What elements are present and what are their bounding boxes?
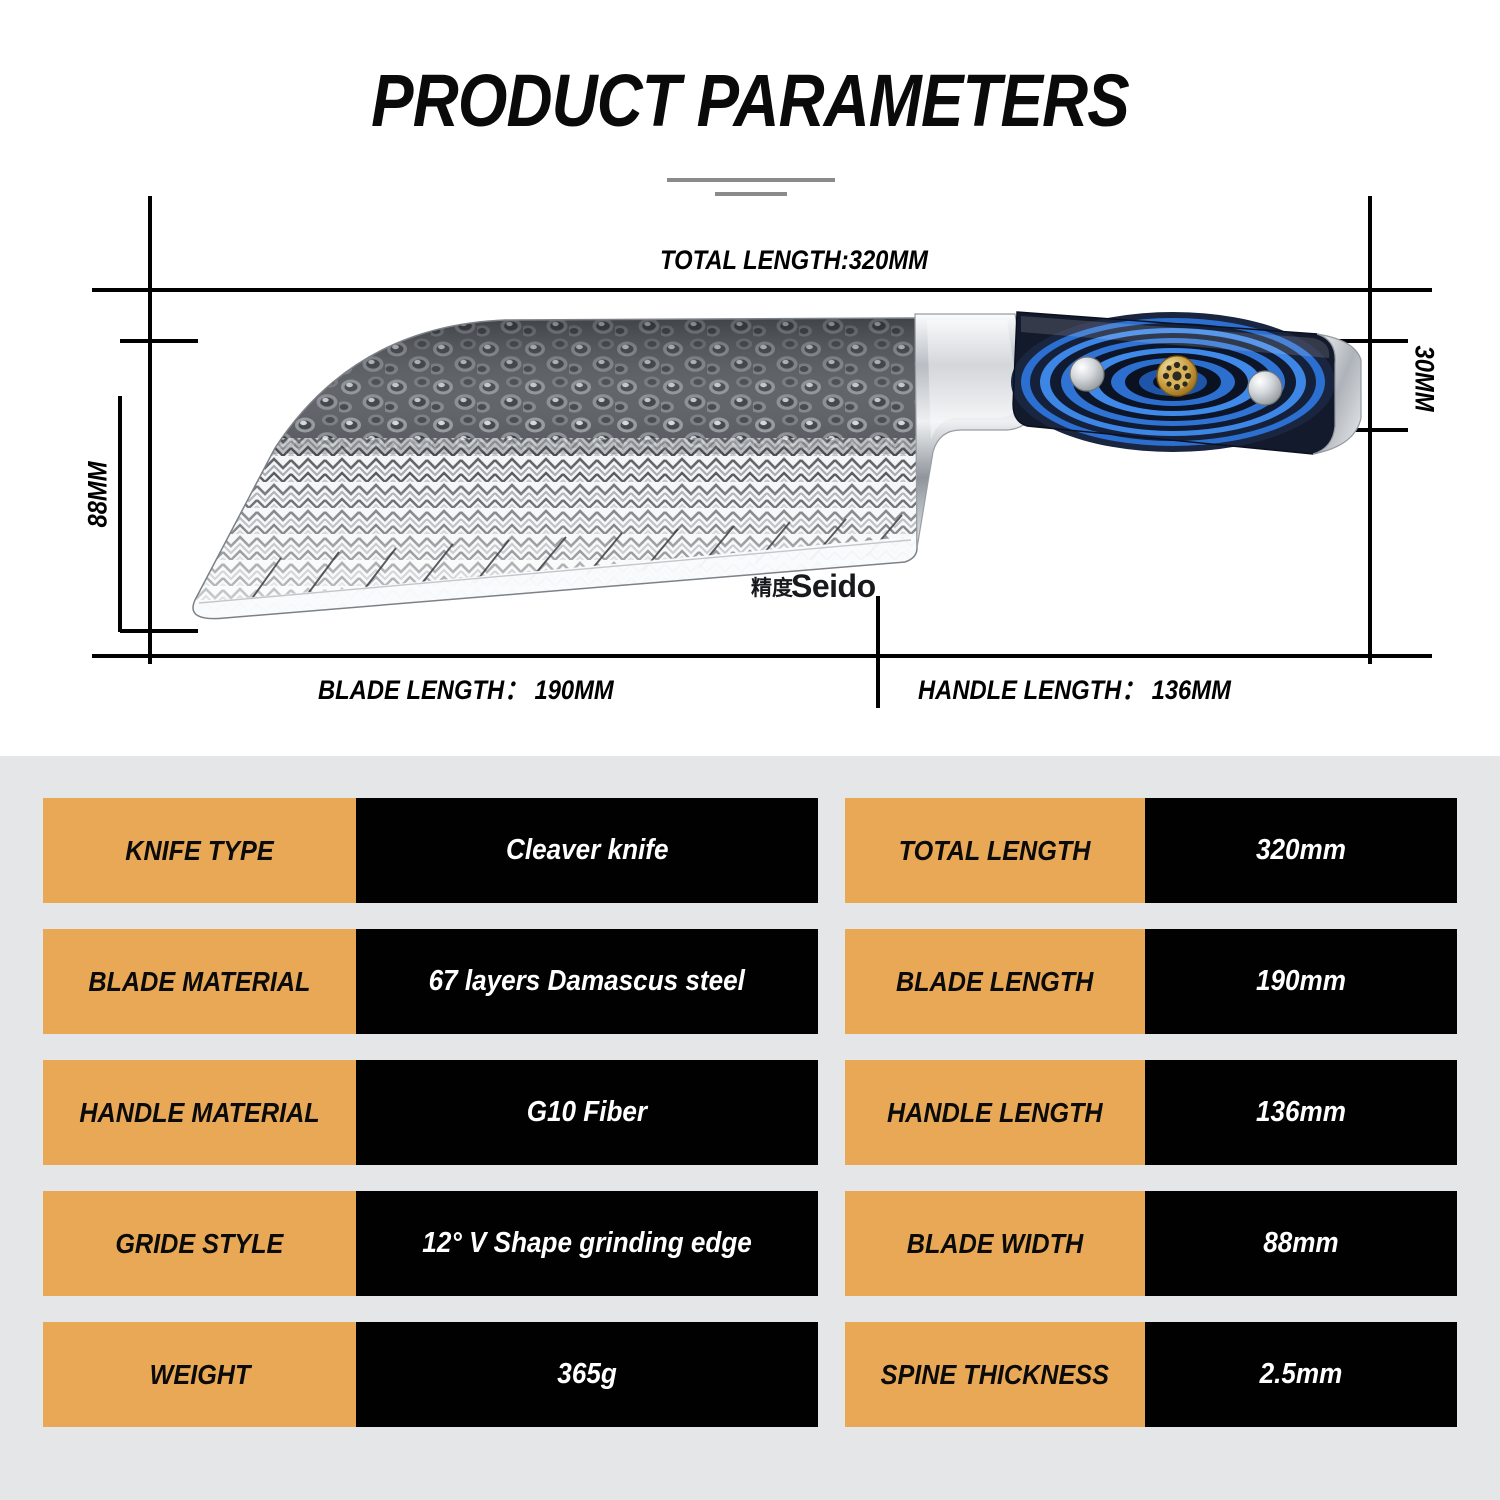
spec-label: BLADE LENGTH [845, 929, 1145, 1034]
knife-illustration: 精度 Seido [155, 300, 1370, 650]
spec-value: 365g [356, 1322, 818, 1427]
label-handle-length: HANDLE LENGTH： 136MM [918, 668, 1231, 707]
title-divider-short [715, 192, 787, 196]
spec-label: BLADE WIDTH [845, 1191, 1145, 1296]
spec-value: Cleaver knife [356, 798, 818, 903]
spec-column-left: KNIFE TYPE Cleaver knife BLADE MATERIAL … [43, 798, 818, 1453]
spec-label: BLADE MATERIAL [43, 929, 356, 1034]
spec-label: HANDLE MATERIAL [43, 1060, 356, 1165]
spec-row-gride-style: GRIDE STYLE 12° V Shape grinding edge [43, 1191, 818, 1296]
product-parameters-page: PRODUCT PARAMETERS TOTAL LENGTH:320MM 88… [0, 0, 1500, 1500]
spec-value: G10 Fiber [356, 1060, 818, 1165]
handle-rivet-rear [1248, 371, 1282, 405]
spec-row-blade-width: BLADE WIDTH 88mm [845, 1191, 1457, 1296]
specifications-section: KNIFE TYPE Cleaver knife BLADE MATERIAL … [0, 756, 1500, 1500]
spec-value: 2.5mm [1145, 1322, 1457, 1427]
mosaic-pin [1157, 356, 1197, 396]
handle [1011, 312, 1335, 454]
spec-row-spine-thickness: SPINE THICKNESS 2.5mm [845, 1322, 1457, 1427]
spec-value: 190mm [1145, 929, 1457, 1034]
spec-column-right: TOTAL LENGTH 320mm BLADE LENGTH 190mm HA… [845, 798, 1457, 1453]
label-blade-width: 88MM [83, 461, 114, 527]
spec-value: 12° V Shape grinding edge [356, 1191, 818, 1296]
spec-row-handle-material: HANDLE MATERIAL G10 Fiber [43, 1060, 818, 1165]
spec-value: 320mm [1145, 798, 1457, 903]
spec-row-blade-material: BLADE MATERIAL 67 layers Damascus steel [43, 929, 818, 1034]
spec-label: SPINE THICKNESS [845, 1322, 1145, 1427]
dim-line-blade-width [118, 396, 122, 632]
dim-line-blade-handle [92, 654, 1432, 658]
spec-row-blade-length: BLADE LENGTH 190mm [845, 929, 1457, 1034]
spec-value: 67 layers Damascus steel [356, 929, 818, 1034]
diagram-section: PRODUCT PARAMETERS TOTAL LENGTH:320MM 88… [0, 0, 1500, 756]
title-divider-long [667, 178, 835, 182]
spec-label: GRIDE STYLE [43, 1191, 356, 1296]
label-total-length: TOTAL LENGTH:320MM [660, 245, 928, 276]
dim-line-total-length [92, 288, 1432, 292]
spec-value: 136mm [1145, 1060, 1457, 1165]
dim-extension-left [148, 196, 152, 664]
spec-row-knife-type: KNIFE TYPE Cleaver knife [43, 798, 818, 903]
spec-label: WEIGHT [43, 1322, 356, 1427]
svg-text:精度: 精度 [751, 576, 793, 600]
label-spine-height: 30MM [1409, 346, 1440, 412]
spec-row-total-length: TOTAL LENGTH 320mm [845, 798, 1457, 903]
spec-label: HANDLE LENGTH [845, 1060, 1145, 1165]
label-blade-length: BLADE LENGTH： 190MM [318, 668, 614, 707]
spec-value: 88mm [1145, 1191, 1457, 1296]
spec-row-weight: WEIGHT 365g [43, 1322, 818, 1427]
spec-row-handle-length: HANDLE LENGTH 136mm [845, 1060, 1457, 1165]
page-title: PRODUCT PARAMETERS [105, 58, 1395, 143]
handle-rivet-front [1070, 357, 1104, 391]
svg-text:Seido: Seido [791, 568, 876, 604]
spec-label: KNIFE TYPE [43, 798, 356, 903]
spec-label: TOTAL LENGTH [845, 798, 1145, 903]
